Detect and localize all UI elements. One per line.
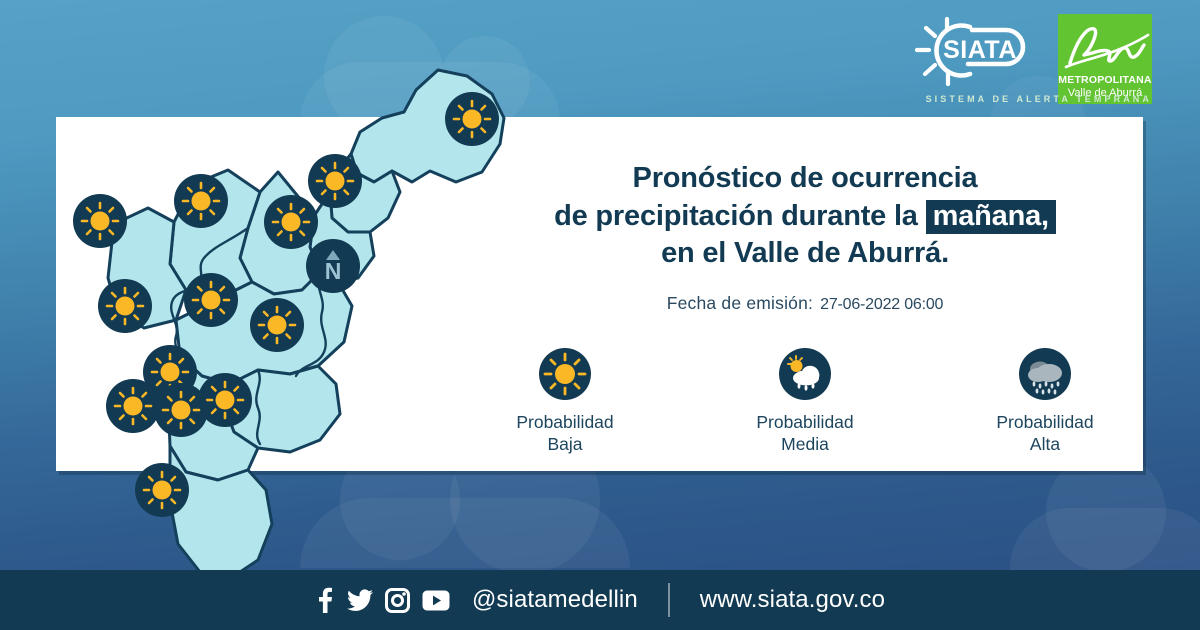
area-logo-line1: METROPOLITANA (1058, 75, 1151, 87)
instagram-icon[interactable] (385, 588, 410, 613)
title-highlight-manana: mañana, (926, 200, 1056, 235)
svg-text:N: N (325, 258, 342, 284)
social-handle[interactable]: @siatamedellin (472, 586, 638, 614)
background-cloud-icon (1010, 508, 1200, 570)
youtube-icon[interactable] (422, 590, 450, 611)
sun-icon (539, 348, 591, 400)
header-logos: SIATA METROPOLITANA Valle de Aburrá (912, 14, 1152, 104)
social-icons (315, 587, 450, 613)
page-title: Pronóstico de ocurrencia de precipitació… (470, 160, 1140, 273)
valle-de-aburra-map: N (52, 32, 522, 572)
legend-item-baja: Probabilidad Baja (490, 348, 640, 455)
sun-cloud-rain-icon (779, 348, 831, 400)
probability-legend: Probabilidad Baja (470, 348, 1140, 455)
title-line-1: Pronóstico de ocurrencia (470, 160, 1140, 198)
area-script-icon (1058, 19, 1152, 71)
footer-divider (668, 583, 670, 617)
facebook-icon[interactable] (315, 587, 335, 613)
footer-bar: @siatamedellin www.siata.gov.co (0, 570, 1200, 630)
svg-text:SIATA: SIATA (943, 36, 1017, 64)
legend-item-alta: Probabilidad Alta (970, 348, 1120, 455)
forecast-info-panel: Pronóstico de ocurrencia de precipitació… (470, 160, 1140, 455)
legend-label-alta: Probabilidad Alta (996, 412, 1093, 455)
twitter-icon[interactable] (347, 587, 373, 613)
legend-label-media: Probabilidad Media (756, 412, 853, 455)
emission-date-label: Fecha de emisión: (667, 293, 813, 314)
legend-label-baja: Probabilidad Baja (516, 412, 613, 455)
title-line-3: en el Valle de Aburrá. (470, 235, 1140, 273)
area-metropolitana-logo: METROPOLITANA Valle de Aburrá (1058, 14, 1152, 104)
emission-date: Fecha de emisión: 27-06-2022 06:00 (470, 293, 1140, 314)
cloud-rain-icon (1019, 348, 1071, 400)
title-line-2: de precipitación durante la mañana, (470, 198, 1140, 236)
compass-rose: N (306, 239, 360, 293)
infographic-root: SIATA METROPOLITANA Valle de Aburrá SIST… (0, 0, 1200, 630)
siata-tagline: SISTEMA DE ALERTA TEMPRANA (926, 94, 1152, 104)
emission-date-value: 27-06-2022 06:00 (820, 296, 943, 314)
siata-logo: SIATA (912, 14, 1048, 94)
legend-item-media: Probabilidad Media (730, 348, 880, 455)
website-url[interactable]: www.siata.gov.co (700, 586, 885, 614)
title-line-2-text: de precipitación durante la (554, 200, 926, 232)
